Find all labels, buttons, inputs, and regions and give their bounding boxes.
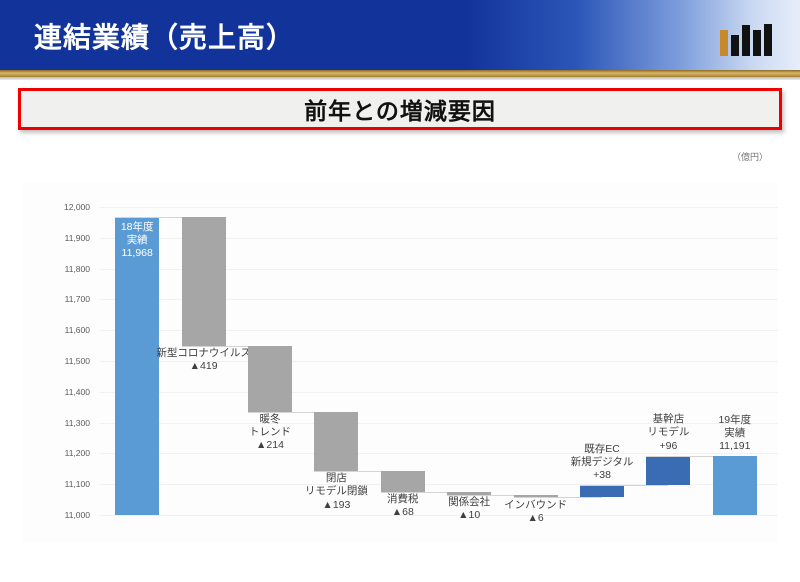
y-axis-tick-label: 11,000 (22, 510, 90, 520)
bar-existing-ec-new-digital (580, 485, 624, 497)
y-axis-tick-label: 11,100 (22, 479, 90, 489)
bar-flagship-store-remodel (646, 456, 690, 486)
y-axis-tick-label: 11,700 (22, 294, 90, 304)
gridline (100, 207, 778, 208)
unit-note: （億円） (732, 150, 768, 163)
slide-header-band: 連結業績（売上高） (0, 0, 800, 70)
y-axis-tick-label: 11,800 (22, 264, 90, 274)
y-axis-tick-label: 11,200 (22, 448, 90, 458)
gridline (100, 392, 778, 393)
bar-warm-winter-trend (248, 346, 292, 412)
bar-label-line: 暖冬 (210, 413, 330, 426)
bar-label-line: 閉店 (276, 472, 396, 485)
bar-label-warm-winter-trend: 暖冬トレンド▲214 (210, 413, 330, 452)
bar-label-fy19-actual: 19年度実績11,191 (675, 414, 795, 453)
bar-value-fy18-actual: 11,968 (77, 247, 197, 260)
bar-label-line: 新規デジタル (542, 456, 662, 469)
bar-label-fy18-actual: 18年度実績11,968 (77, 221, 197, 260)
subtitle-text: 前年との増減要因 (304, 92, 496, 126)
gridline (100, 453, 778, 454)
bar-label-inbound: インバウンド▲6 (476, 499, 596, 525)
y-axis-tick-label: 11,500 (22, 356, 90, 366)
bar-covid19 (182, 217, 226, 346)
waterfall-connector (580, 485, 668, 486)
company-bar-logo-icon (720, 22, 772, 56)
y-axis-tick-label: 11,300 (22, 418, 90, 428)
chart-plot-area: 11,00011,10011,20011,30011,40011,50011,6… (22, 183, 778, 543)
bar-value-inbound: ▲6 (476, 512, 596, 525)
bar-consumption-tax (381, 471, 425, 492)
bar-label-line: 実績 (675, 427, 795, 440)
bar-label-line: トレンド (210, 426, 330, 439)
bar-label-line: 19年度 (675, 414, 795, 427)
bar-label-line: インバウンド (476, 499, 596, 512)
subtitle-banner: 前年との増減要因 (18, 88, 782, 130)
waterfall-connector (514, 497, 602, 498)
bar-label-line: 18年度 (77, 221, 197, 234)
gold-divider (0, 70, 800, 77)
bar-value-fy19-actual: 11,191 (675, 440, 795, 453)
bar-label-line: 新型コロナウイルス (144, 347, 264, 360)
bar-value-covid19: ▲419 (144, 360, 264, 373)
bar-store-closure-remodel (314, 412, 358, 471)
bar-value-existing-ec-new-digital: +38 (542, 469, 662, 482)
bar-label-line: 実績 (77, 234, 197, 247)
y-axis-tick-label: 12,000 (22, 202, 90, 212)
bar-fy19-actual (713, 456, 757, 515)
y-axis-tick-label: 11,600 (22, 325, 90, 335)
page-title: 連結業績（売上高） (34, 16, 295, 56)
bar-value-warm-winter-trend: ▲214 (210, 439, 330, 452)
waterfall-chart: 11,00011,10011,20011,30011,40011,50011,6… (22, 183, 778, 543)
bar-label-covid19: 新型コロナウイルス▲419 (144, 347, 264, 373)
y-axis-tick-label: 11,400 (22, 387, 90, 397)
gray-divider (0, 77, 800, 80)
